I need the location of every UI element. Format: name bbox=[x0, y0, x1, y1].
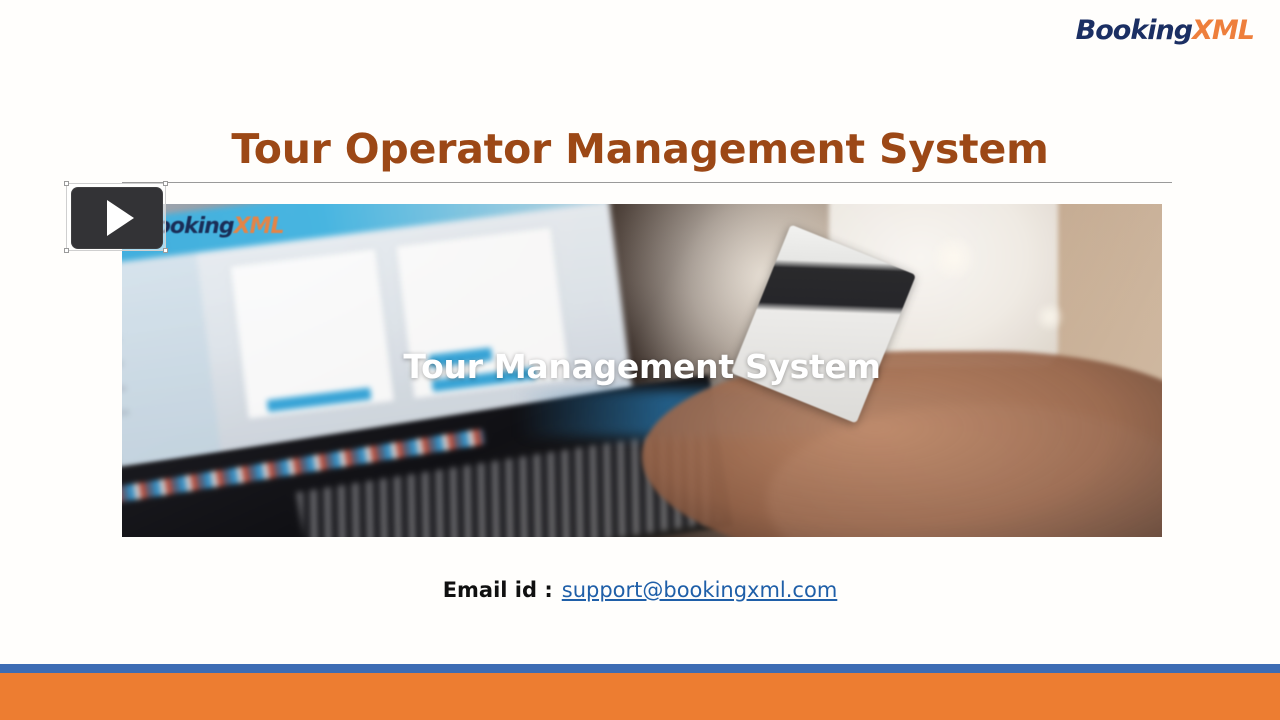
footer-bar-orange bbox=[0, 673, 1280, 720]
contact-email-line: Email id :support@bookingxml.com bbox=[0, 578, 1280, 602]
title-divider bbox=[122, 182, 1172, 183]
email-link[interactable]: support@bookingxml.com bbox=[562, 578, 838, 602]
bokeh-light bbox=[1037, 304, 1063, 330]
resize-handle-top-right[interactable] bbox=[163, 181, 168, 186]
resize-handle-bottom-right[interactable] bbox=[163, 248, 168, 253]
page-title: Tour Operator Management System bbox=[0, 124, 1280, 174]
video-caption: Tour Management System bbox=[122, 347, 1162, 386]
brand-logo-xml-text: XML bbox=[1192, 15, 1254, 46]
play-button[interactable] bbox=[71, 187, 163, 249]
resize-handle-top-left[interactable] bbox=[64, 181, 69, 186]
footer-bar-blue bbox=[0, 664, 1280, 673]
resize-handle-bottom-left[interactable] bbox=[64, 248, 69, 253]
email-label: Email id : bbox=[443, 578, 553, 602]
play-triangle-icon bbox=[107, 200, 134, 236]
brand-logo-booking-text: Booking bbox=[1076, 15, 1192, 46]
video-selection-frame[interactable] bbox=[66, 183, 166, 251]
presentation-slide: BookingXML Tour Operator Management Syst… bbox=[0, 0, 1280, 720]
laptop-screen-line bbox=[122, 409, 129, 417]
video-thumbnail[interactable]: BookingXML Tour Management System bbox=[122, 204, 1162, 537]
media-watermark-xml-text: XML bbox=[234, 214, 284, 239]
brand-logo: BookingXML bbox=[1062, 12, 1254, 48]
